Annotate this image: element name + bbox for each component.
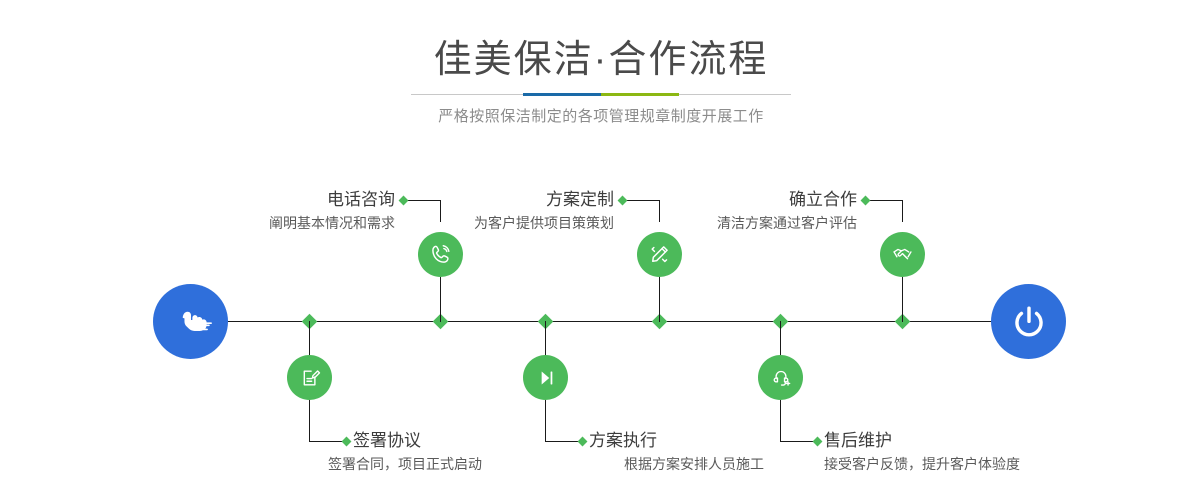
timeline-node-5[interactable]: [880, 232, 925, 277]
timeline-leader-h-5: [867, 200, 903, 201]
power-icon: [1007, 300, 1051, 344]
step-title-6: 售后维护: [824, 430, 1064, 452]
step-title-2: 签署协议: [353, 430, 573, 452]
timeline-stem-3: [659, 277, 660, 322]
timeline-node-6[interactable]: [758, 355, 803, 400]
timeline-leader-v-2: [309, 400, 310, 441]
step-desc-2: 签署合同，项目正式启动: [328, 454, 588, 474]
title-divider: [411, 93, 791, 96]
timeline-node-1[interactable]: [418, 232, 463, 277]
page-title: 佳美保洁·合作流程: [0, 37, 1202, 83]
timeline-node-4[interactable]: [523, 355, 568, 400]
timeline-leader-dot-4: [578, 437, 588, 447]
play-execute-icon: [533, 365, 559, 391]
step-desc-1: 阐明基本情况和需求: [155, 213, 395, 233]
page-subtitle: 严格按照保洁制定的各项管理规章制度开展工作: [0, 106, 1202, 128]
timeline-node-2[interactable]: [287, 355, 332, 400]
divider-segment-green: [601, 93, 679, 96]
timeline-leader-v-4: [545, 400, 546, 441]
timeline-leader-h-3: [624, 200, 660, 201]
divider-segment-blue: [523, 93, 601, 96]
step-desc-3: 为客户提供项目策策划: [374, 213, 614, 233]
timeline-leader-dot-2: [342, 437, 352, 447]
timeline-node-3[interactable]: [637, 232, 682, 277]
timeline-leader-dot-1: [399, 196, 409, 206]
timeline-stem-1: [440, 277, 441, 322]
step-desc-5: 清洁方案通过客户评估: [617, 213, 857, 233]
pencil-compass-icon: [646, 241, 673, 268]
phone-call-icon: [427, 241, 454, 268]
step-title-5: 确立合作: [657, 189, 857, 211]
timeline-end-node[interactable]: [991, 284, 1066, 359]
timeline-leader-v-6: [780, 400, 781, 441]
pointing-hand-icon: [169, 300, 213, 344]
headset-support-icon: [768, 365, 794, 391]
step-desc-6: 接受客户反馈，提升客户体验度: [824, 454, 1104, 474]
timeline-leader-h-4: [545, 441, 581, 442]
step-title-3: 方案定制: [414, 189, 614, 211]
timeline-leader-h-2: [309, 441, 345, 442]
handshake-icon: [889, 241, 916, 268]
step-title-4: 方案执行: [589, 430, 809, 452]
timeline-stem-5: [902, 277, 903, 322]
process-flow-infographic: 佳美保洁·合作流程 严格按照保洁制定的各项管理规章制度开展工作: [0, 0, 1202, 502]
timeline-leader-dot-6: [813, 437, 823, 447]
timeline-leader-dot-5: [861, 196, 871, 206]
timeline-leader-dot-3: [618, 196, 628, 206]
step-title-1: 电话咨询: [195, 189, 395, 211]
timeline-leader-v-5: [902, 200, 903, 222]
document-pencil-icon: [297, 365, 323, 391]
timeline-start-node[interactable]: [153, 284, 228, 359]
timeline-leader-h-6: [780, 441, 816, 442]
